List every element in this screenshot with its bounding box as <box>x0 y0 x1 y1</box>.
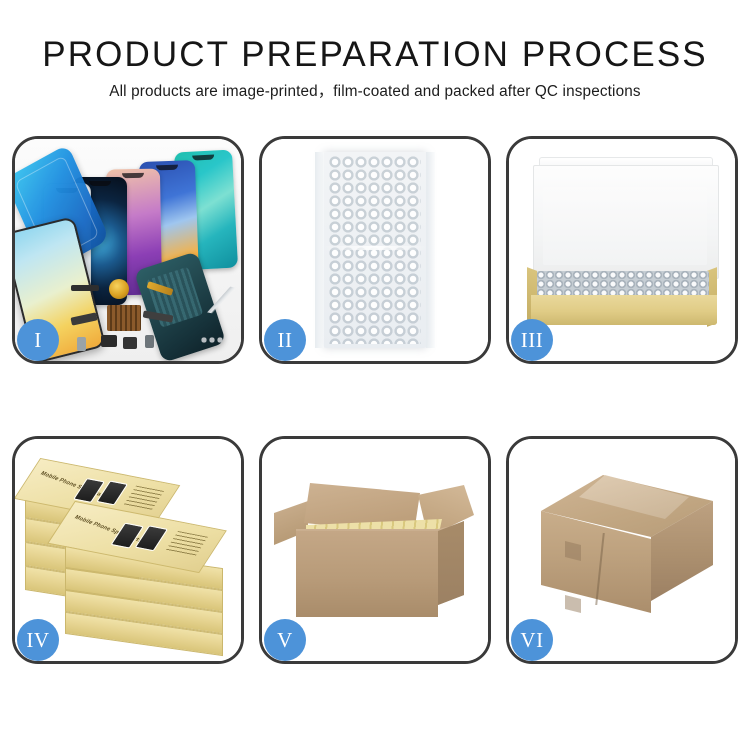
step-badge-5: V <box>264 619 306 661</box>
retail-box-stack: Mobile Phone Spare Parts Mobile Phone Sp… <box>25 461 237 647</box>
process-step-panel-3: III <box>506 136 738 364</box>
phone-notch-icon <box>122 173 144 178</box>
bubble-wrap-edge <box>426 152 435 348</box>
bubble-wrapped-product <box>323 152 427 348</box>
product-preparation-infographic: PRODUCT PREPARATION PROCESS All products… <box>0 0 750 750</box>
process-step-panel-1: I <box>12 136 244 364</box>
phone-notch-icon <box>156 165 178 171</box>
connector-part <box>77 337 86 351</box>
process-step-panel-6: VI <box>506 436 738 664</box>
spec-text-lines <box>123 486 164 511</box>
bubble-wrap-edge <box>315 152 324 348</box>
step-badge-2: II <box>264 319 306 361</box>
process-step-panel-5: V <box>259 436 491 664</box>
carton-side-face <box>438 521 464 605</box>
phone-notch-icon <box>89 181 111 186</box>
foam-insert <box>543 187 707 265</box>
spec-text-lines <box>165 531 208 557</box>
carton-front-face <box>296 531 438 617</box>
step-badge-3: III <box>511 319 553 361</box>
process-step-panel-4: Mobile Phone Spare Parts Mobile Phone Sp… <box>12 436 244 664</box>
page-title: PRODUCT PREPARATION PROCESS <box>0 34 750 76</box>
step-badge-1: I <box>17 319 59 361</box>
box-front-panel <box>531 295 717 325</box>
step-badge-6: VI <box>511 619 553 661</box>
bubble-wrapped-contents <box>537 271 709 297</box>
process-steps-grid: I II II <box>12 136 738 664</box>
step-badge-4: IV <box>17 619 59 661</box>
page-subtitle: All products are image-printed，film-coat… <box>0 82 750 102</box>
connector-part <box>123 337 137 349</box>
phone-notch-icon <box>192 154 214 160</box>
header: PRODUCT PREPARATION PROCESS All products… <box>0 34 750 102</box>
battery-part <box>145 335 154 348</box>
flex-cable-part <box>71 285 99 291</box>
copper-coil-part <box>109 279 129 299</box>
chip-grid-part <box>107 305 141 331</box>
connector-part <box>101 335 117 347</box>
screws-part <box>201 335 225 345</box>
process-step-panel-2: II <box>259 136 491 364</box>
